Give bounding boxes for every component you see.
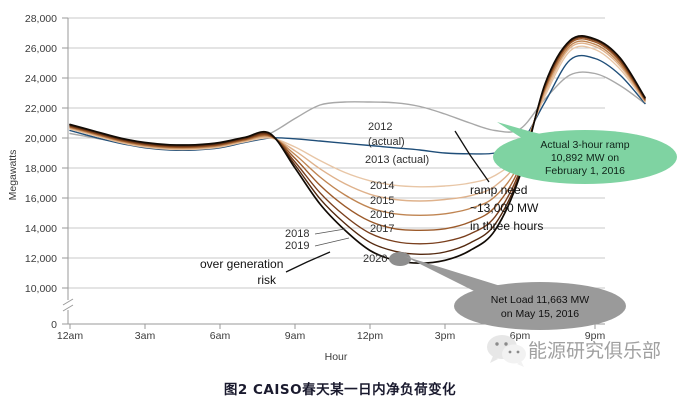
- series-label-2018: 2018: [285, 228, 309, 240]
- y-axis-title: Megawatts: [7, 150, 19, 201]
- y-tick-12000: 12,000: [25, 253, 57, 265]
- green-callout-line1: Actual 3-hour ramp: [540, 139, 629, 151]
- y-tick-24000: 24,000: [25, 73, 57, 85]
- series-label-2015: 2015: [370, 195, 394, 207]
- x-tick-12am: 12am: [57, 330, 84, 342]
- y-tick-20000: 20,000: [25, 133, 57, 145]
- y-tick-14000: 14,000: [25, 223, 57, 235]
- watermark-text: 能源研究俱乐部: [528, 340, 661, 362]
- series-label-2020: 2020: [363, 253, 387, 265]
- x-tick-3am: 3am: [135, 330, 156, 342]
- y-tick-18000: 18,000: [25, 163, 57, 175]
- series-label-2014: 2014: [370, 180, 394, 192]
- ramp-label-line1: ramp need: [470, 183, 527, 197]
- figure-caption: 图2 CAISO春天某一日内净负荷变化: [0, 378, 680, 398]
- watermark: 能源研究俱乐部: [487, 335, 661, 367]
- series-label-2013: 2013 (actual): [365, 154, 429, 166]
- green-callout-line3: February 1, 2016: [545, 165, 625, 177]
- overgen-label-line2: risk: [257, 273, 277, 287]
- y-tick-22000: 22,000: [25, 103, 57, 115]
- y-tick-28000: 28,000: [25, 13, 57, 25]
- series-label-2019: 2019: [285, 240, 309, 252]
- x-tick-3pm: 3pm: [435, 330, 456, 342]
- gray-callout-line1: Net Load 11,663 MW: [491, 294, 590, 306]
- overgeneration-annotation: over generation risk: [200, 252, 330, 287]
- ramp-label-line3: in three hours: [470, 219, 543, 233]
- net-load-chart: 28,000 26,000 24,000 22,000 20,000 18,00…: [0, 0, 680, 380]
- x-tick-6am: 6am: [210, 330, 231, 342]
- net-load-marker-dot: [389, 252, 411, 266]
- green-callout-line2: 10,892 MW on: [551, 152, 619, 164]
- gray-callout: Net Load 11,663 MW on May 15, 2016: [389, 252, 626, 330]
- overgen-label-line1: over generation: [200, 257, 283, 271]
- figure-container: 28,000 26,000 24,000 22,000 20,000 18,00…: [0, 0, 680, 413]
- series-label-2012-line1: 2012: [368, 121, 392, 133]
- x-axis-title: Hour: [325, 351, 348, 363]
- y-tick-10000: 10,000: [25, 283, 57, 295]
- y-tick-26000: 26,000: [25, 43, 57, 55]
- series-label-2016: 2016: [370, 209, 394, 221]
- series-label-2017: 2017: [370, 223, 394, 235]
- y-tick-16000: 16,000: [25, 193, 57, 205]
- x-tick-9am: 9am: [285, 330, 306, 342]
- gray-callout-line2: on May 15, 2016: [501, 308, 579, 320]
- series-label-2012-line2: (actual): [368, 136, 405, 148]
- green-callout: Actual 3-hour ramp 10,892 MW on February…: [493, 122, 677, 184]
- ramp-label-line2: ~13,000 MW: [470, 201, 539, 215]
- y-axis: 28,000 26,000 24,000 22,000 20,000 18,00…: [7, 13, 73, 331]
- x-tick-12pm: 12pm: [357, 330, 384, 342]
